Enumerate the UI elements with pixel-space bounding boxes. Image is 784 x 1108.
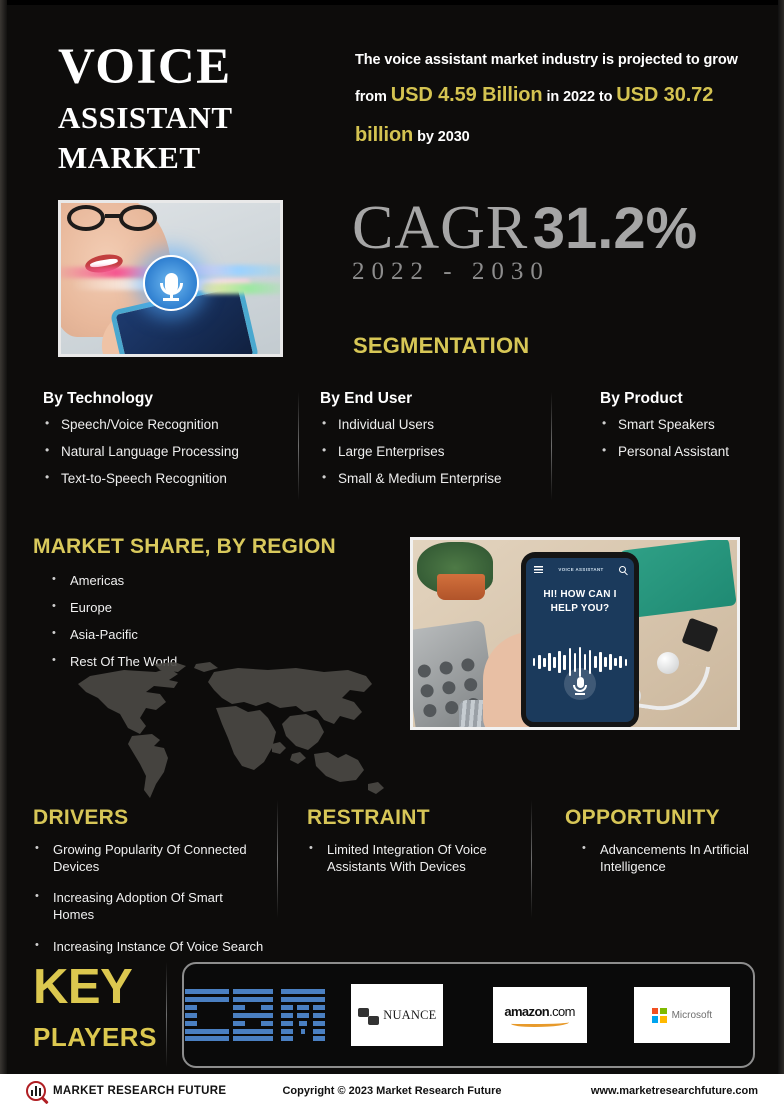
- assistant-greeting: HI! HOW CAN I HELP YOU?: [526, 588, 634, 615]
- list-item: Increasing Instance Of Voice Search: [33, 938, 265, 955]
- list-item: Asia-Pacific: [48, 628, 298, 643]
- divider: [166, 962, 167, 1067]
- phone-screen: VOICE ASSISTANT HI! HOW CAN I HELP YOU?: [526, 558, 634, 722]
- market-share-heading: MARKET SHARE, BY REGION: [33, 535, 336, 559]
- world-map: [28, 658, 408, 803]
- amazon-wordmark: amazon: [504, 1004, 549, 1019]
- intro-statement: The voice assistant market industry is p…: [355, 46, 747, 155]
- footer-website[interactable]: www.marketresearchfuture.com: [591, 1085, 758, 1097]
- footer-brand-name: MARKET RESEARCH FUTURE: [53, 1085, 226, 1097]
- list-item: Speech/Voice Recognition: [43, 418, 308, 433]
- logo-slot-ibm: [184, 989, 326, 1041]
- nuance-logo: NUANCE: [351, 984, 443, 1046]
- segment-by-technology: By Technology Speech/Voice Recognition N…: [43, 390, 308, 499]
- cagr-label: CAGR: [352, 194, 528, 262]
- microsoft-wordmark: Microsoft: [672, 1010, 713, 1021]
- logo-slot-amazon: amazon.com: [469, 987, 611, 1043]
- greeting-line-1: HI! HOW CAN I: [526, 588, 634, 602]
- amazon-logo: amazon.com: [493, 987, 587, 1043]
- microsoft-squares-icon: [652, 1008, 667, 1023]
- segment-heading: By End User: [320, 390, 560, 408]
- list-item: Smart Speakers: [600, 418, 784, 433]
- list-item: Personal Assistant: [600, 445, 784, 460]
- intro-part-3: by 2030: [413, 129, 469, 145]
- logo-slot-microsoft: Microsoft: [611, 987, 753, 1043]
- cagr-period: 2022 - 2030: [352, 258, 550, 286]
- search-icon[interactable]: [619, 566, 626, 573]
- intro-part-2: in 2022 to: [543, 89, 617, 105]
- segment-by-product: By Product Smart Speakers Personal Assis…: [600, 390, 784, 472]
- opportunity-heading: OPPORTUNITY: [565, 806, 720, 830]
- hand-holding-phone-photo: VOICE ASSISTANT HI! HOW CAN I HELP YOU?: [410, 537, 740, 730]
- page-title: VOICE ASSISTANT MARKET: [58, 42, 358, 177]
- amazon-suffix: .com: [549, 1004, 575, 1019]
- list-item: Europe: [48, 601, 298, 616]
- hamburger-menu-icon[interactable]: [534, 566, 543, 573]
- list-item: Individual Users: [320, 418, 560, 433]
- segmentation-heading: SEGMENTATION: [353, 333, 529, 359]
- segment-heading: By Technology: [43, 390, 308, 408]
- microphone-icon: [143, 255, 199, 311]
- nuance-swoosh-icon: [358, 1006, 380, 1024]
- list-item: Text-to-Speech Recognition: [43, 472, 308, 487]
- microphone-button[interactable]: [564, 668, 596, 700]
- drivers-list: Growing Popularity Of Connected Devices …: [33, 841, 265, 969]
- right-edge: [778, 0, 784, 1108]
- drivers-heading: DRIVERS: [33, 806, 128, 830]
- earbud-illustration: [657, 652, 679, 674]
- list-item: Limited Integration Of Voice Assistants …: [307, 841, 522, 875]
- cagr-value: 31.2%: [533, 196, 697, 261]
- nuance-wordmark: NUANCE: [383, 1008, 436, 1023]
- list-item: Advancements In Artificial Intelligence: [580, 841, 770, 875]
- smartphone-device: VOICE ASSISTANT HI! HOW CAN I HELP YOU?: [521, 552, 639, 728]
- app-top-bar: VOICE ASSISTANT: [526, 566, 634, 573]
- woman-speaking-to-phone-photo: [58, 200, 283, 357]
- segmentation-columns: By Technology Speech/Voice Recognition N…: [30, 390, 760, 505]
- segment-heading: By Product: [600, 390, 784, 408]
- glasses-icon: [67, 205, 171, 235]
- binder-clip-illustration: [681, 618, 718, 653]
- title-line-1: VOICE: [58, 42, 358, 93]
- flowerpot-illustration: [437, 574, 485, 600]
- footer-brand: MARKET RESEARCH FUTURE: [26, 1081, 226, 1101]
- top-edge: [0, 0, 784, 5]
- list-item: Americas: [48, 574, 298, 589]
- list-item: Increasing Adoption Of Smart Homes: [33, 889, 265, 923]
- footer: MARKET RESEARCH FUTURE Copyright © 2023 …: [0, 1074, 784, 1108]
- infographic-page: VOICE ASSISTANT MARKET The voice assista…: [0, 0, 784, 1108]
- list-item: Small & Medium Enterprise: [320, 472, 560, 487]
- app-title: VOICE ASSISTANT: [558, 567, 603, 572]
- greeting-line-2: HELP YOU?: [526, 602, 634, 616]
- key-players-logo-box: NUANCE amazon.com Microsoft: [182, 962, 755, 1068]
- amazon-swoosh-icon: [511, 1019, 569, 1027]
- restraint-list: Limited Integration Of Voice Assistants …: [307, 841, 522, 889]
- intro-value-2022: USD 4.59 Billion: [391, 84, 543, 106]
- left-edge: [0, 0, 7, 1108]
- title-line-2: ASSISTANT: [58, 98, 358, 138]
- ibm-logo: [185, 989, 325, 1041]
- title-line-3: MARKET: [58, 138, 358, 178]
- list-item: Growing Popularity Of Connected Devices: [33, 841, 265, 875]
- microsoft-logo: Microsoft: [634, 987, 730, 1043]
- restraint-heading: RESTRAINT: [307, 806, 430, 830]
- divider: [531, 800, 532, 918]
- list-item: Large Enterprises: [320, 445, 560, 460]
- key-players-heading-top: KEY: [33, 963, 132, 1012]
- footer-copyright: Copyright © 2023 Market Research Future: [282, 1085, 501, 1097]
- market-research-future-logo-icon: [26, 1081, 46, 1101]
- list-item: Natural Language Processing: [43, 445, 308, 460]
- segment-by-end-user: By End User Individual Users Large Enter…: [320, 390, 560, 499]
- opportunity-list: Advancements In Artificial Intelligence: [580, 841, 770, 889]
- key-players-heading-bottom: PLAYERS: [33, 1022, 157, 1053]
- light-streak: [201, 283, 283, 294]
- divider: [277, 800, 278, 918]
- cagr-block: CAGR 31.2%: [352, 193, 697, 264]
- logo-slot-nuance: NUANCE: [326, 984, 468, 1046]
